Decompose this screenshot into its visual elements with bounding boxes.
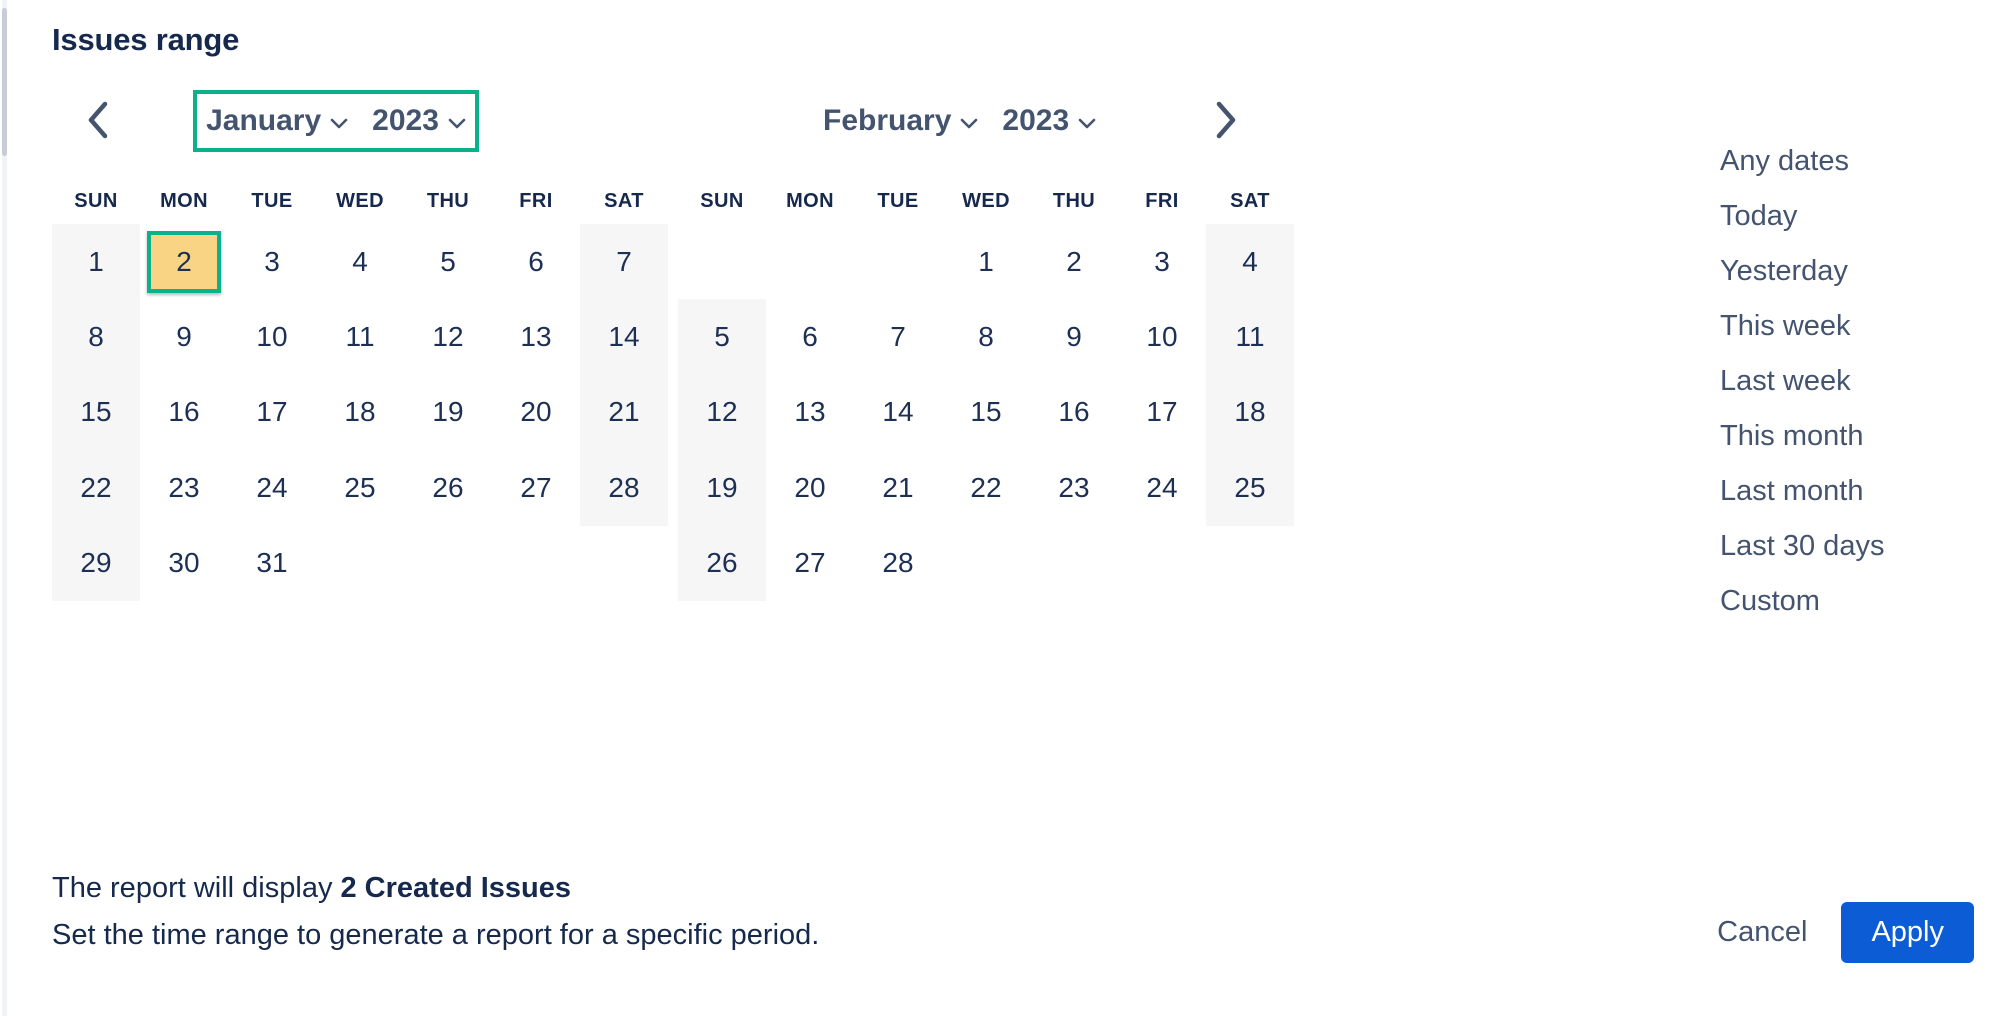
day-number: 5 [414,234,482,289]
weeks-container: 1234567891011121314151617181920212223242… [678,224,1294,601]
weekday-label-thu: THU [1030,190,1118,213]
weekday-label-wed: WED [316,190,404,213]
day-number: 1 [952,234,1020,289]
day-cell[interactable]: 2 [140,224,228,299]
week-row: 891011121314 [52,299,668,374]
day-cell[interactable]: 9 [140,299,228,374]
report-summary-prefix: The report will display [52,872,341,904]
day-number: 18 [1216,385,1284,440]
day-number: 29 [62,536,130,591]
chevron-down-icon [960,118,978,129]
preset-today[interactable]: Today [1720,189,1884,244]
week-row: 567891011 [678,299,1294,374]
day-number: 8 [952,310,1020,365]
day-number: 6 [776,310,844,365]
day-number: 17 [1128,385,1196,440]
weekday-label-thu: THU [404,190,492,213]
week-row: 22232425262728 [52,450,668,525]
day-number: 3 [238,234,306,289]
date-range-picker-panel: Issues range January 2023 [0,0,2000,1016]
day-cell[interactable]: 10 [228,299,316,374]
preset-label: Yesterday [1720,255,1848,288]
week-row: 12131415161718 [678,375,1294,450]
day-cell[interactable]: 25 [1206,450,1294,525]
year-dropdown-february[interactable]: 2023 [999,104,1099,138]
day-number: 28 [864,536,932,591]
week-row: 262728 [678,526,1294,601]
day-cell[interactable]: 13 [766,375,854,450]
day-number: 13 [776,385,844,440]
weekday-label-mon: MON [766,190,854,213]
day-cell[interactable]: 20 [492,375,580,450]
day-number: 7 [864,310,932,365]
day-number: 17 [238,385,306,440]
day-cell[interactable]: 21 [854,450,942,525]
month-dropdown-february[interactable]: February [820,104,981,138]
week-row: 19202122232425 [678,450,1294,525]
weeks-container: 1234567891011121314151617181920212223242… [52,224,668,601]
day-number: 26 [688,536,756,591]
day-cell[interactable]: 1 [942,224,1030,299]
day-cell[interactable]: 26 [678,526,766,601]
preset-this-month[interactable]: This month [1720,409,1884,464]
day-cell[interactable]: 24 [228,450,316,525]
day-cell[interactable]: 4 [316,224,404,299]
day-cell[interactable]: 14 [580,299,668,374]
day-cell[interactable]: 20 [766,450,854,525]
day-cell[interactable]: 10 [1118,299,1206,374]
day-cell-empty [492,526,580,601]
day-number: 2 [147,231,221,293]
day-number: 24 [238,460,306,515]
day-number: 6 [502,234,570,289]
day-number: 26 [414,460,482,515]
day-cell[interactable]: 5 [678,299,766,374]
week-row: 293031 [52,526,668,601]
day-number: 4 [1216,234,1284,289]
preset-label: Last 30 days [1720,530,1884,563]
day-number: 2 [1040,234,1108,289]
weekday-header-row: SUNMONTUEWEDTHUFRISAT [678,178,1294,224]
day-number: 3 [1128,234,1196,289]
preset-label: Last week [1720,365,1851,398]
calendar-grid-february: SUNMONTUEWEDTHUFRISAT 123456789101112131… [678,178,1294,601]
preset-label: Custom [1720,585,1820,618]
day-cell[interactable]: 22 [942,450,1030,525]
report-summary-count: 2 Created Issues [341,872,572,904]
weekday-label-tue: TUE [854,190,942,213]
day-number: 14 [590,310,658,365]
day-number: 30 [150,536,218,591]
previous-month-button[interactable] [72,94,124,146]
day-cell-empty [678,224,766,299]
day-number: 1 [62,234,130,289]
calendar-grid-january: SUNMONTUEWEDTHUFRISAT 123456789101112131… [52,178,668,601]
day-cell-empty [1206,526,1294,601]
day-number: 16 [150,385,218,440]
day-cell[interactable]: 9 [1030,299,1118,374]
next-month-button[interactable] [1200,94,1252,146]
year-dropdown-january[interactable]: 2023 [369,104,469,138]
day-cell-empty [766,224,854,299]
month-year-selector-february[interactable]: February 2023 [820,90,1084,152]
day-cell[interactable]: 2 [1030,224,1118,299]
preset-yesterday[interactable]: Yesterday [1720,244,1884,299]
day-cell[interactable]: 7 [854,299,942,374]
day-number: 16 [1040,385,1108,440]
apply-button[interactable]: Apply [1841,902,1974,963]
day-number: 23 [1040,460,1108,515]
weekday-header-row: SUNMONTUEWEDTHUFRISAT [52,178,668,224]
day-cell[interactable]: 18 [316,375,404,450]
preset-this-week[interactable]: This week [1720,299,1884,354]
day-number: 7 [590,234,658,289]
weekday-label-mon: MON [140,190,228,213]
chevron-down-icon [330,118,348,129]
week-row: 1234567 [52,224,668,299]
day-cell[interactable]: 7 [580,224,668,299]
day-cell-empty [404,526,492,601]
day-cell[interactable]: 27 [766,526,854,601]
month-year-selector-january[interactable]: January 2023 [193,90,479,152]
day-number: 18 [326,385,394,440]
weekday-label-sun: SUN [52,190,140,213]
preset-last-30-days[interactable]: Last 30 days [1720,519,1884,574]
day-cell[interactable]: 13 [492,299,580,374]
day-cell[interactable]: 25 [316,450,404,525]
day-cell[interactable]: 15 [942,375,1030,450]
day-cell[interactable]: 29 [52,526,140,601]
day-number: 13 [502,310,570,365]
day-cell[interactable]: 16 [1030,375,1118,450]
day-cell[interactable]: 6 [766,299,854,374]
day-cell[interactable]: 5 [404,224,492,299]
day-number: 31 [238,536,306,591]
preset-label: Today [1720,200,1797,233]
day-number: 9 [1040,310,1108,365]
report-description: Set the time range to generate a report … [52,919,819,952]
day-number: 22 [952,460,1020,515]
day-number: 21 [864,460,932,515]
day-cell[interactable]: 8 [52,299,140,374]
day-cell[interactable]: 3 [1118,224,1206,299]
day-number: 19 [414,385,482,440]
day-number: 23 [150,460,218,515]
day-number: 4 [326,234,394,289]
date-presets-list: Any datesTodayYesterdayThis weekLast wee… [1720,134,1884,629]
day-number: 11 [326,310,394,365]
day-number: 10 [238,310,306,365]
chevron-left-icon [85,100,111,140]
day-cell[interactable]: 8 [942,299,1030,374]
day-cell[interactable]: 21 [580,375,668,450]
day-cell[interactable]: 19 [678,450,766,525]
day-cell[interactable]: 16 [140,375,228,450]
month-label-february: February [823,104,951,138]
month-dropdown-january[interactable]: January [203,104,351,138]
day-cell[interactable]: 23 [1030,450,1118,525]
day-cell[interactable]: 30 [140,526,228,601]
report-summary-line: The report will display 2 Created Issues [52,872,819,905]
day-number: 15 [62,385,130,440]
day-cell[interactable]: 28 [854,526,942,601]
preset-label: Any dates [1720,145,1849,178]
page-scrollbar-thumb[interactable] [2,8,7,156]
footer-actions: Cancel Apply [1701,902,1974,963]
day-number: 27 [502,460,570,515]
weekday-label-tue: TUE [228,190,316,213]
preset-last-week[interactable]: Last week [1720,354,1884,409]
day-cell[interactable]: 19 [404,375,492,450]
day-cell[interactable]: 17 [1118,375,1206,450]
day-number: 24 [1128,460,1196,515]
day-cell-empty [1030,526,1118,601]
day-cell[interactable]: 26 [404,450,492,525]
preset-label: This month [1720,420,1863,453]
day-cell[interactable]: 11 [1206,299,1294,374]
day-cell-empty [580,526,668,601]
day-number: 12 [688,385,756,440]
page-scrollbar[interactable] [2,0,7,1016]
day-number: 20 [502,385,570,440]
day-cell[interactable]: 1 [52,224,140,299]
day-number: 22 [62,460,130,515]
weekday-label-wed: WED [942,190,1030,213]
day-number: 14 [864,385,932,440]
year-label-february: 2023 [1002,104,1069,138]
day-cell[interactable]: 23 [140,450,228,525]
cancel-button[interactable]: Cancel [1701,904,1823,961]
week-row: 15161718192021 [52,375,668,450]
weekday-label-fri: FRI [492,190,580,213]
day-cell[interactable]: 27 [492,450,580,525]
day-number: 5 [688,310,756,365]
day-cell[interactable]: 17 [228,375,316,450]
preset-custom[interactable]: Custom [1720,574,1884,629]
day-cell[interactable]: 6 [492,224,580,299]
day-cell[interactable]: 31 [228,526,316,601]
chevron-down-icon [1078,118,1096,129]
day-number: 28 [590,460,658,515]
day-cell[interactable]: 24 [1118,450,1206,525]
day-cell[interactable]: 12 [678,375,766,450]
day-number: 10 [1128,310,1196,365]
day-number: 25 [326,460,394,515]
day-number: 12 [414,310,482,365]
day-cell[interactable]: 11 [316,299,404,374]
month-label-january: January [206,104,321,138]
day-number: 20 [776,460,844,515]
preset-any-dates[interactable]: Any dates [1720,134,1884,189]
weekday-label-sat: SAT [1206,190,1294,213]
preset-label: This week [1720,310,1851,343]
day-cell[interactable]: 4 [1206,224,1294,299]
day-number: 19 [688,460,756,515]
chevron-down-icon [448,118,466,129]
day-number: 21 [590,385,658,440]
footer-summary: The report will display 2 Created Issues… [52,872,819,952]
day-number: 9 [150,310,218,365]
day-cell[interactable]: 15 [52,375,140,450]
day-number: 25 [1216,460,1284,515]
day-number: 11 [1216,310,1284,365]
day-cell[interactable]: 28 [580,450,668,525]
day-cell-empty [316,526,404,601]
day-number: 8 [62,310,130,365]
day-cell[interactable]: 18 [1206,375,1294,450]
preset-last-month[interactable]: Last month [1720,464,1884,519]
day-number: 15 [952,385,1020,440]
weekday-label-sun: SUN [678,190,766,213]
day-cell-empty [1118,526,1206,601]
day-cell[interactable]: 14 [854,375,942,450]
preset-label: Last month [1720,475,1863,508]
day-cell-empty [854,224,942,299]
day-cell[interactable]: 3 [228,224,316,299]
year-label-january: 2023 [372,104,439,138]
weekday-label-fri: FRI [1118,190,1206,213]
chevron-right-icon [1213,100,1239,140]
day-cell[interactable]: 22 [52,450,140,525]
weekday-label-sat: SAT [580,190,668,213]
week-row: 1234 [678,224,1294,299]
day-cell-empty [942,526,1030,601]
page-title: Issues range [52,22,239,58]
day-number: 27 [776,536,844,591]
day-cell[interactable]: 12 [404,299,492,374]
